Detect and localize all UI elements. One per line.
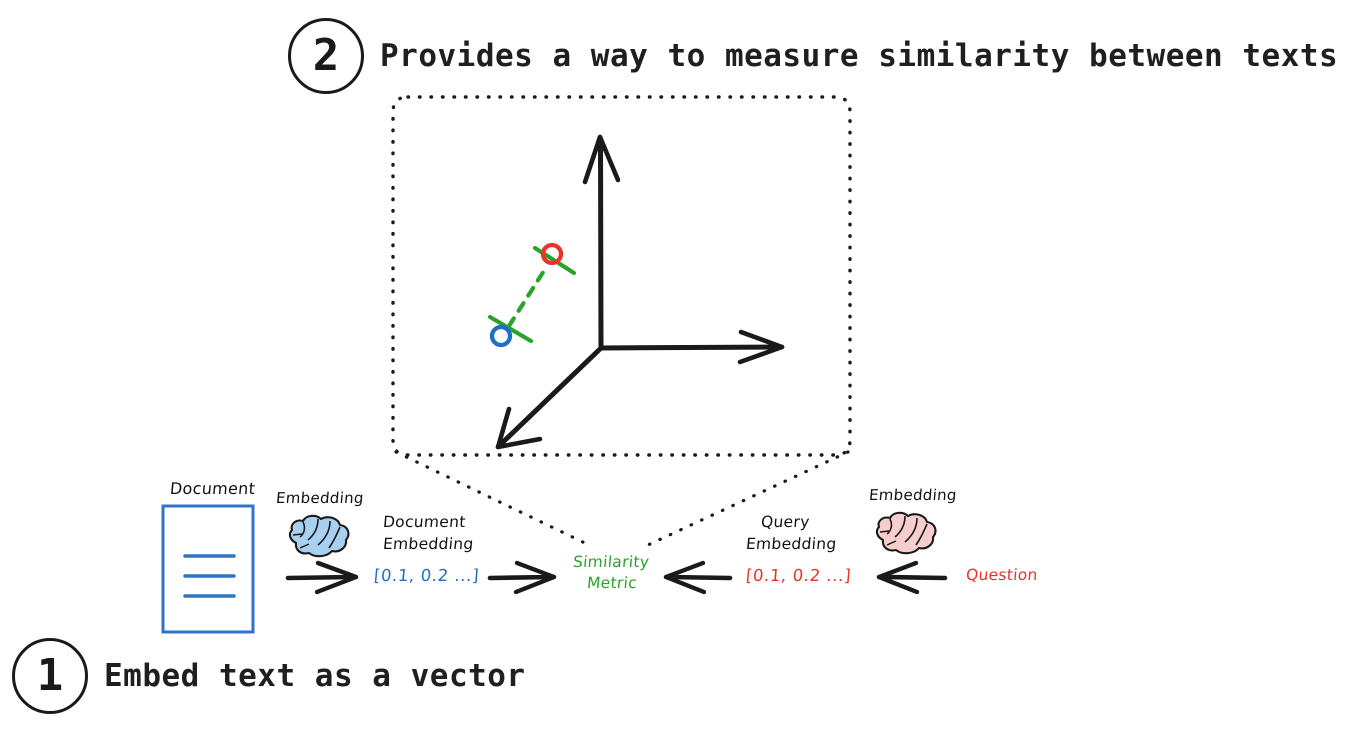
- document-embedding-label-line1: Document: [382, 513, 466, 531]
- arrow-similarity-from-queryvector: [666, 563, 730, 592]
- step-badge-2-number: 2: [313, 34, 340, 78]
- query-embedding-model-label: Embedding: [868, 486, 957, 504]
- x-axis-arrow: [601, 332, 782, 362]
- callout-connector-lines: [396, 452, 848, 545]
- document-icon: [163, 506, 253, 632]
- diagram-canvas: 2 Provides a way to measure similarity b…: [0, 0, 1356, 729]
- step-badge-1: 1: [12, 638, 88, 714]
- step-badge-1-number: 1: [37, 654, 64, 698]
- arrow-queryvector-from-question: [879, 563, 945, 592]
- z-axis-arrow: [498, 349, 600, 447]
- y-axis-arrow: [585, 137, 618, 348]
- step-2-label: Provides a way to measure similarity bet…: [380, 38, 1338, 74]
- step-badge-2: 2: [288, 18, 364, 94]
- question-label: Question: [965, 566, 1038, 584]
- query-embedding-label-line2: Embedding: [745, 535, 837, 553]
- arrow-docvector-to-similarity: [490, 563, 554, 592]
- diagram-vector-layer: [0, 0, 1356, 729]
- document-embedding-point: [492, 327, 510, 345]
- query-embedding-point: [543, 245, 561, 263]
- vector-space-axes: [498, 137, 782, 447]
- document-embedding-vector: [0.1, 0.2 ...]: [373, 566, 480, 585]
- arrow-document-to-brain: [288, 563, 356, 592]
- similarity-metric-label-line2: Metric: [586, 574, 638, 592]
- step-1-label: Embed text as a vector: [104, 658, 526, 694]
- similarity-metric-label-line1: Similarity: [572, 553, 650, 571]
- document-embedding-model-label: Embedding: [275, 489, 364, 507]
- query-embedding-vector: [0.1, 0.2 ...]: [745, 566, 852, 585]
- similarity-distance-line: [490, 248, 574, 341]
- document-label: Document: [169, 479, 256, 498]
- document-embedding-label-line2: Embedding: [382, 535, 474, 553]
- vector-space-callout-box: [393, 97, 850, 455]
- brain-icon-document: [290, 516, 349, 556]
- brain-icon-query: [877, 513, 936, 553]
- query-embedding-label-line1: Query: [760, 513, 810, 531]
